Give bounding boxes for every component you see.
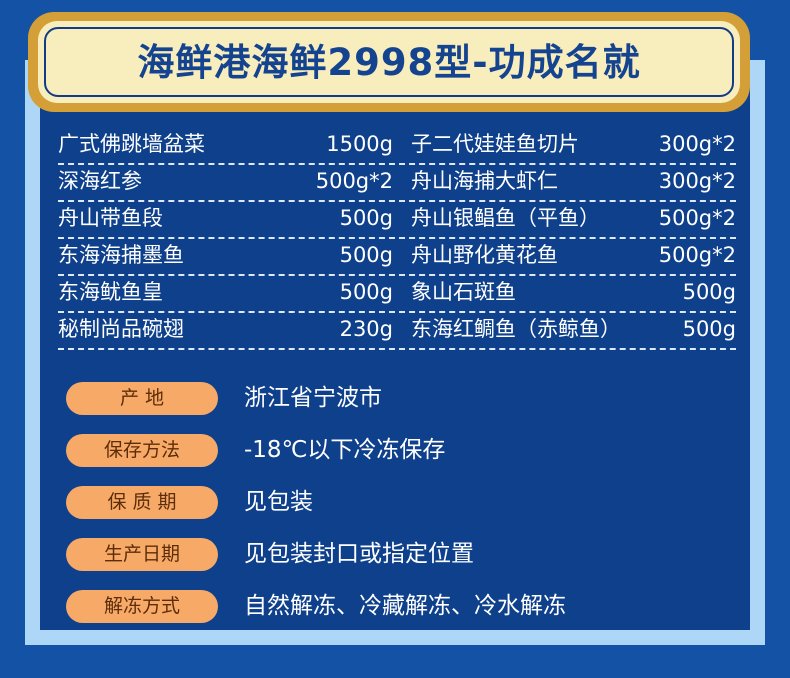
product-name: 舟山带鱼段 [58,202,163,235]
product-weight: 500g*2 [316,165,393,198]
info-list: 产 地 浙江省宁波市 保存方法 -18℃以下冷冻保存 保 质 期 见包装 生产日… [66,372,736,632]
product-table: 广式佛跳墙盆菜 1500g 子二代娃娃鱼切片 300g*2 深海红参 500g*… [58,128,736,350]
table-cell-right: 舟山海捕大虾仁 300g*2 [399,165,736,200]
product-spec-poster: 海鲜港海鲜2998型-功成名就 广式佛跳墙盆菜 1500g 子二代娃娃鱼切片 3… [0,0,790,678]
table-cell-right: 子二代娃娃鱼切片 300g*2 [399,128,736,163]
info-badge-shelf-life: 保 质 期 [66,486,218,519]
table-cell-right: 舟山银鲳鱼（平鱼） 500g*2 [399,202,736,237]
table-row: 深海红参 500g*2 舟山海捕大虾仁 300g*2 [58,165,736,202]
info-row-thawing-method: 解冻方式 自然解冻、冷藏解冻、冷水解冻 [66,580,736,632]
product-weight: 500g [340,276,393,309]
table-cell-left: 东海海捕墨鱼 500g [58,239,399,274]
info-badge-label: 生产日期 [104,545,180,564]
info-value-storage-method: -18℃以下冷冻保存 [218,439,736,462]
table-row: 广式佛跳墙盆菜 1500g 子二代娃娃鱼切片 300g*2 [58,128,736,165]
table-cell-left: 东海鱿鱼皇 500g [58,276,399,311]
product-weight: 500g [683,276,736,309]
product-weight: 500g*2 [659,239,736,272]
product-name: 舟山银鲳鱼（平鱼） [411,202,600,235]
product-weight: 500g [683,313,736,346]
info-badge-storage-method: 保存方法 [66,434,218,467]
product-weight: 500g*2 [659,202,736,235]
table-cell-left: 舟山带鱼段 500g [58,202,399,237]
product-weight: 230g [340,313,393,346]
info-badge-thawing-method: 解冻方式 [66,590,218,623]
product-name: 舟山野化黄花鱼 [411,239,558,272]
product-name: 东海海捕墨鱼 [58,239,184,272]
info-badge-label: 产 地 [120,389,164,408]
info-value-production-date: 见包装封口或指定位置 [218,543,736,566]
product-name: 东海鱿鱼皇 [58,276,163,309]
table-cell-right: 象山石斑鱼 500g [399,276,736,311]
info-badge-label: 保 质 期 [107,493,176,512]
table-cell-left: 深海红参 500g*2 [58,165,399,200]
info-badge-label: 保存方法 [104,441,180,460]
info-badge-origin: 产 地 [66,382,218,415]
info-value-thawing-method: 自然解冻、冷藏解冻、冷水解冻 [218,595,736,618]
table-row: 秘制尚品碗翅 230g 东海红鲷鱼（赤鲸鱼） 500g [58,313,736,350]
table-row: 东海鱿鱼皇 500g 象山石斑鱼 500g [58,276,736,313]
title-banner: 海鲜港海鲜2998型-功成名就 [28,12,750,112]
product-name: 舟山海捕大虾仁 [411,165,558,198]
table-cell-right: 舟山野化黄花鱼 500g*2 [399,239,736,274]
product-weight: 500g [340,202,393,235]
product-weight: 500g [340,239,393,272]
table-cell-right: 东海红鲷鱼（赤鲸鱼） 500g [399,313,736,348]
info-value-shelf-life: 见包装 [218,491,736,514]
page-title: 海鲜港海鲜2998型-功成名就 [137,44,640,81]
info-row-shelf-life: 保 质 期 见包装 [66,476,736,528]
product-name: 秘制尚品碗翅 [58,313,184,346]
table-cell-left: 广式佛跳墙盆菜 1500g [58,128,399,163]
info-row-storage-method: 保存方法 -18℃以下冷冻保存 [66,424,736,476]
table-cell-left: 秘制尚品碗翅 230g [58,313,399,348]
product-name: 东海红鲷鱼（赤鲸鱼） [411,313,621,346]
product-weight: 300g*2 [659,128,736,161]
title-banner-inner: 海鲜港海鲜2998型-功成名就 [38,21,740,103]
product-name: 深海红参 [58,165,142,198]
info-row-origin: 产 地 浙江省宁波市 [66,372,736,424]
table-row: 舟山带鱼段 500g 舟山银鲳鱼（平鱼） 500g*2 [58,202,736,239]
info-badge-production-date: 生产日期 [66,538,218,571]
product-name: 广式佛跳墙盆菜 [58,128,205,161]
product-name: 象山石斑鱼 [411,276,516,309]
info-badge-label: 解冻方式 [104,597,180,616]
product-name: 子二代娃娃鱼切片 [411,128,579,161]
product-weight: 1500g [326,128,393,161]
table-row: 东海海捕墨鱼 500g 舟山野化黄花鱼 500g*2 [58,239,736,276]
info-value-origin: 浙江省宁波市 [218,387,736,410]
info-row-production-date: 生产日期 见包装封口或指定位置 [66,528,736,580]
product-weight: 300g*2 [659,165,736,198]
